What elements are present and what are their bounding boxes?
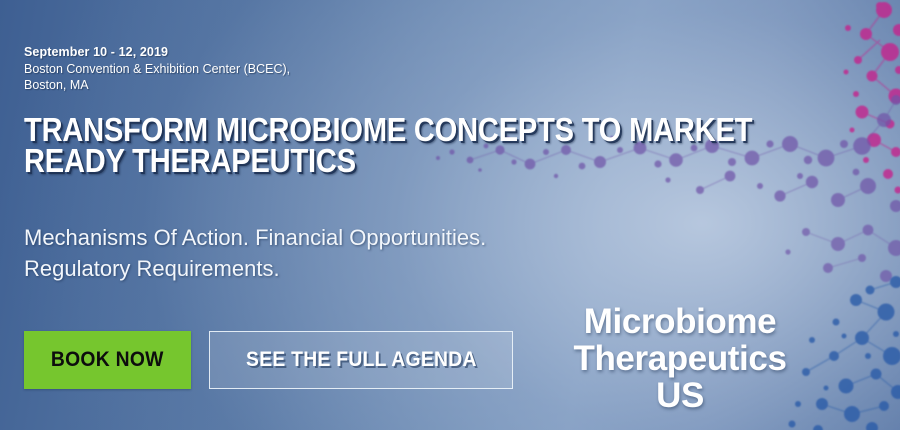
event-venue-line2: Boston, MA	[24, 77, 290, 94]
dot-cluster-blue	[789, 276, 900, 430]
subtitle-line-1: Mechanisms Of Action. Financial Opportun…	[24, 222, 486, 253]
book-now-button[interactable]: BOOK NOW	[24, 331, 191, 389]
event-banner: September 10 - 12, 2019 Boston Conventio…	[0, 0, 900, 430]
event-venue-line1: Boston Convention & Exhibition Center (B…	[24, 61, 290, 78]
book-now-label: BOOK NOW	[51, 348, 164, 372]
headline-line-2: READY THERAPEUTICS	[24, 145, 752, 176]
see-full-agenda-label: SEE THE FULL AGENDA	[246, 348, 477, 372]
subtitle: Mechanisms Of Action. Financial Opportun…	[24, 222, 486, 284]
see-full-agenda-button[interactable]: SEE THE FULL AGENDA	[209, 331, 514, 389]
logo-line-2: Therapeutics	[560, 340, 800, 377]
logo-line-3: US	[560, 377, 800, 414]
subtitle-line-2: Regulatory Requirements.	[24, 253, 486, 284]
event-logo: Microbiome Therapeutics US	[560, 303, 800, 414]
headline-line-1: TRANSFORM MICROBIOME CONCEPTS TO MARKET	[24, 114, 752, 145]
dot-cluster-purple-lower	[785, 225, 900, 282]
event-date: September 10 - 12, 2019	[24, 44, 290, 61]
logo-line-1: Microbiome	[560, 303, 800, 340]
cta-button-group: BOOK NOW SEE THE FULL AGENDA	[24, 331, 513, 389]
page-title: TRANSFORM MICROBIOME CONCEPTS TO MARKET …	[24, 114, 752, 176]
event-details: September 10 - 12, 2019 Boston Conventio…	[24, 44, 290, 94]
dot-cluster-magenta	[844, 2, 900, 194]
